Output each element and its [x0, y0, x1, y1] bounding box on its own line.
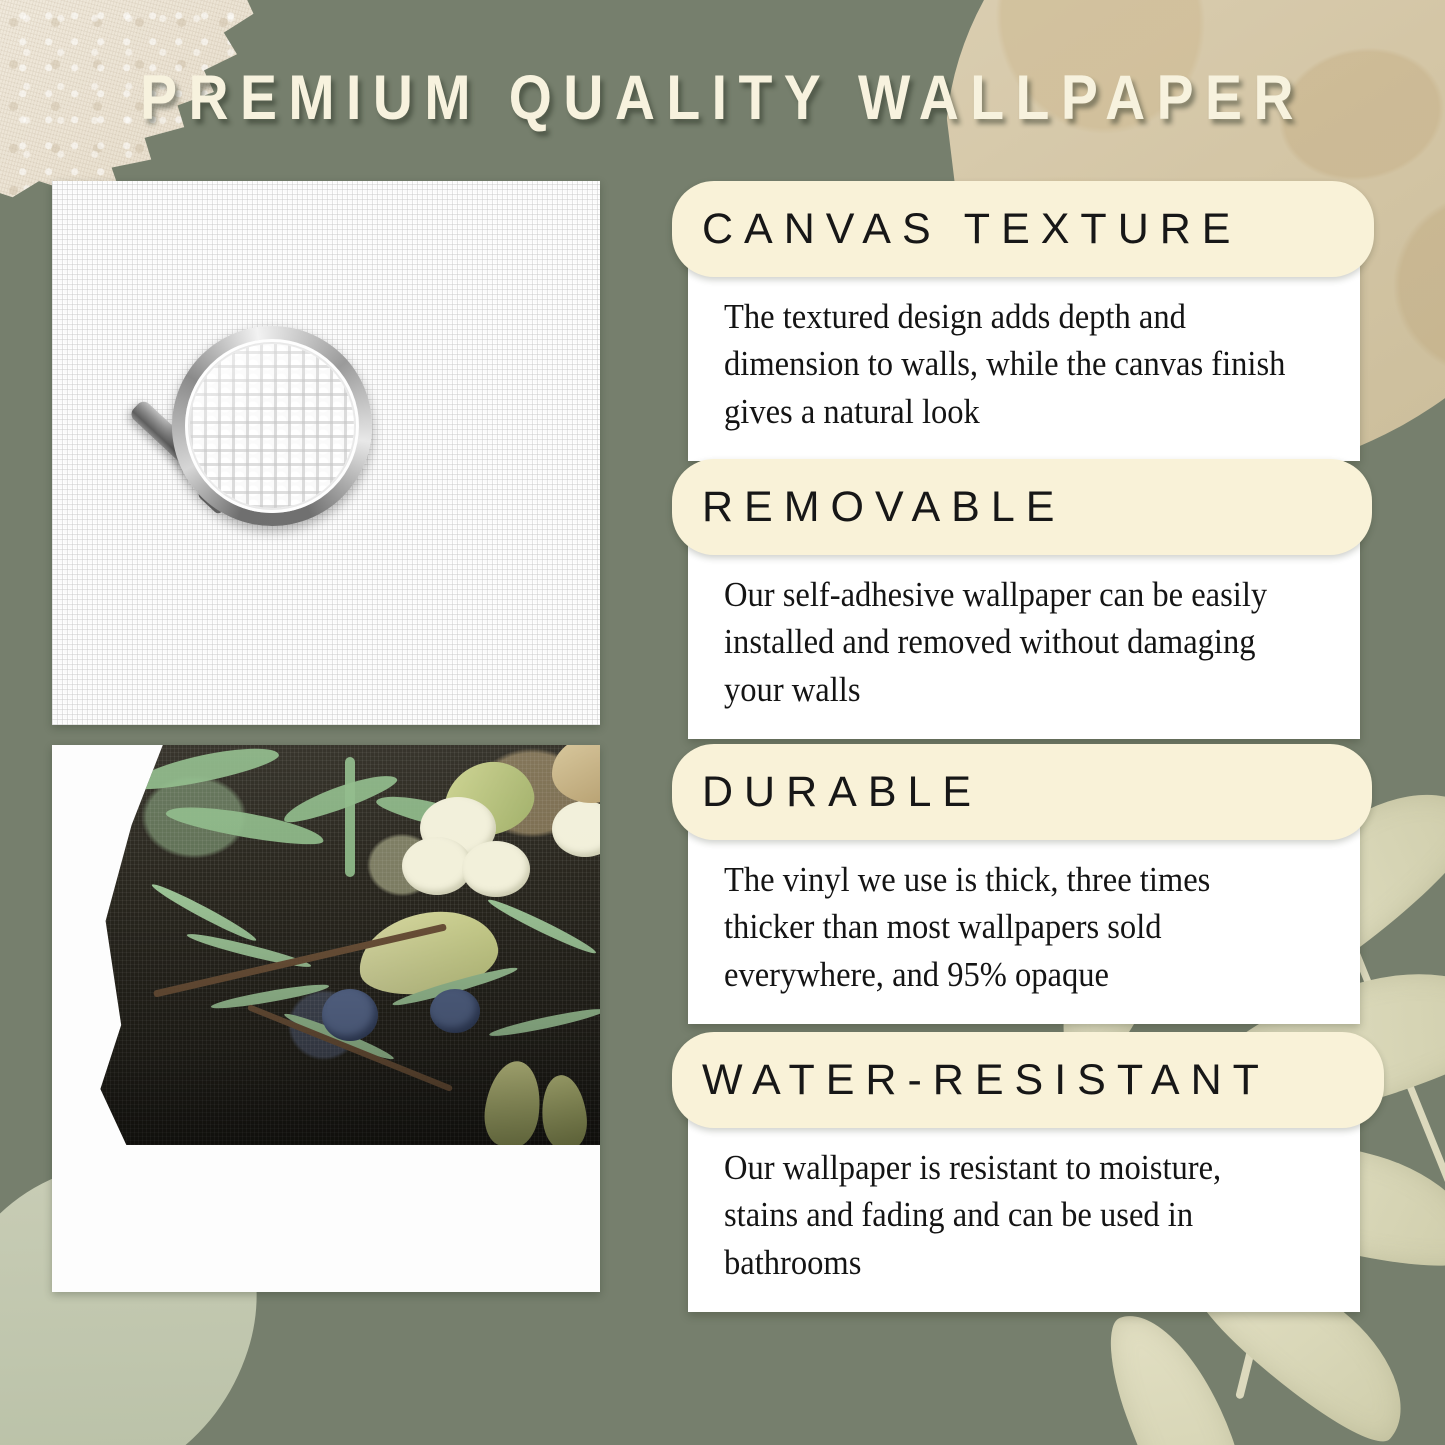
canvas-texture-photo	[52, 181, 600, 725]
feature-card-body: The vinyl we use is thick, three times t…	[688, 822, 1360, 1024]
feature-card-title: DURABLE	[702, 771, 982, 814]
feature-card-durable: DURABLE The vinyl we use is thick, three…	[672, 744, 1384, 1024]
roll-shading	[90, 745, 600, 1145]
magnifier-inner-ring	[185, 339, 359, 513]
feature-card-title: CANVAS TEXTURE	[702, 208, 1242, 251]
feature-card-header: WATER-RESISTANT	[672, 1032, 1384, 1128]
feature-card-text: The vinyl we use is thick, three times t…	[724, 856, 1291, 998]
feature-card-canvas-texture: CANVAS TEXTURE The textured design adds …	[672, 181, 1384, 461]
magnifier-icon	[172, 326, 372, 526]
feature-card-text: Our wallpaper is resistant to moisture, …	[724, 1144, 1291, 1286]
feature-card-title: REMOVABLE	[702, 486, 1065, 529]
feature-card-water-resistant: WATER-RESISTANT Our wallpaper is resista…	[672, 1032, 1384, 1312]
wallpaper-roll-photo	[52, 745, 600, 1292]
feature-card-header: CANVAS TEXTURE	[672, 181, 1374, 277]
feature-card-text: Our self-adhesive wallpaper can be easil…	[724, 571, 1291, 713]
feature-card-body: Our wallpaper is resistant to moisture, …	[688, 1110, 1360, 1312]
infographic-page: PREMIUM QUALITY WALLPAPER	[0, 0, 1445, 1445]
feature-card-header: REMOVABLE	[672, 459, 1372, 555]
feature-card-title: WATER-RESISTANT	[702, 1059, 1270, 1102]
wallpaper-roll	[90, 745, 600, 1145]
feature-card-list: CANVAS TEXTURE The textured design adds …	[672, 0, 1392, 1445]
magnifier-gloss	[190, 344, 354, 508]
feature-card-header: DURABLE	[672, 744, 1372, 840]
magnifier-lens	[190, 344, 354, 508]
feature-card-text: The textured design adds depth and dimen…	[724, 293, 1291, 435]
feature-card-removable: REMOVABLE Our self-adhesive wallpaper ca…	[672, 459, 1384, 739]
feature-card-body: The textured design adds depth and dimen…	[688, 259, 1360, 461]
feature-card-body: Our self-adhesive wallpaper can be easil…	[688, 537, 1360, 739]
